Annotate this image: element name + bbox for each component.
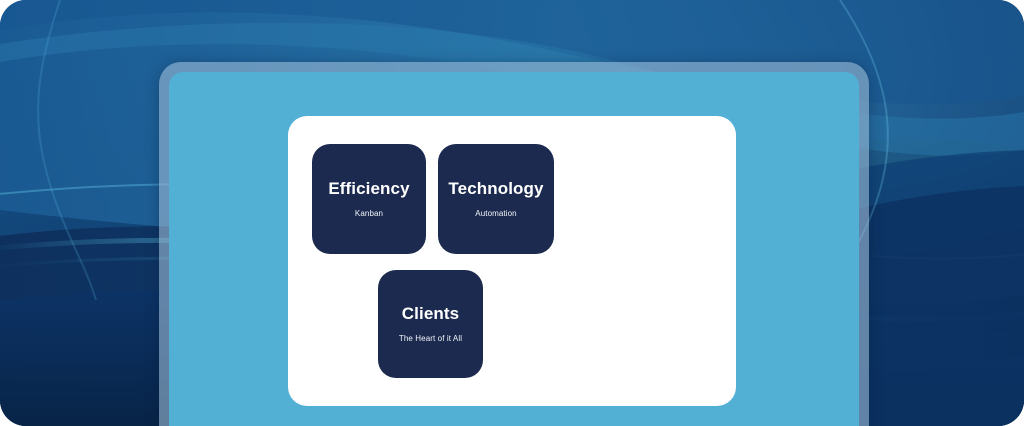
tile-efficiency-subtitle: Kanban bbox=[355, 209, 383, 219]
content-card: Efficiency Kanban Technology Automation … bbox=[288, 116, 736, 406]
device-frame: Efficiency Kanban Technology Automation … bbox=[159, 62, 869, 426]
tile-efficiency[interactable]: Efficiency Kanban bbox=[312, 144, 426, 254]
tile-technology[interactable]: Technology Automation bbox=[438, 144, 554, 254]
tile-grid: Efficiency Kanban Technology Automation … bbox=[288, 116, 736, 406]
tile-technology-subtitle: Automation bbox=[475, 209, 516, 219]
screenshot-stage: Efficiency Kanban Technology Automation … bbox=[0, 0, 1024, 426]
tile-efficiency-title: Efficiency bbox=[328, 180, 409, 199]
device-screen: Efficiency Kanban Technology Automation … bbox=[169, 72, 859, 426]
tile-clients[interactable]: Clients The Heart of it All bbox=[378, 270, 483, 378]
tile-technology-title: Technology bbox=[448, 180, 543, 199]
tile-clients-title: Clients bbox=[402, 305, 459, 324]
tile-clients-subtitle: The Heart of it All bbox=[399, 334, 462, 344]
